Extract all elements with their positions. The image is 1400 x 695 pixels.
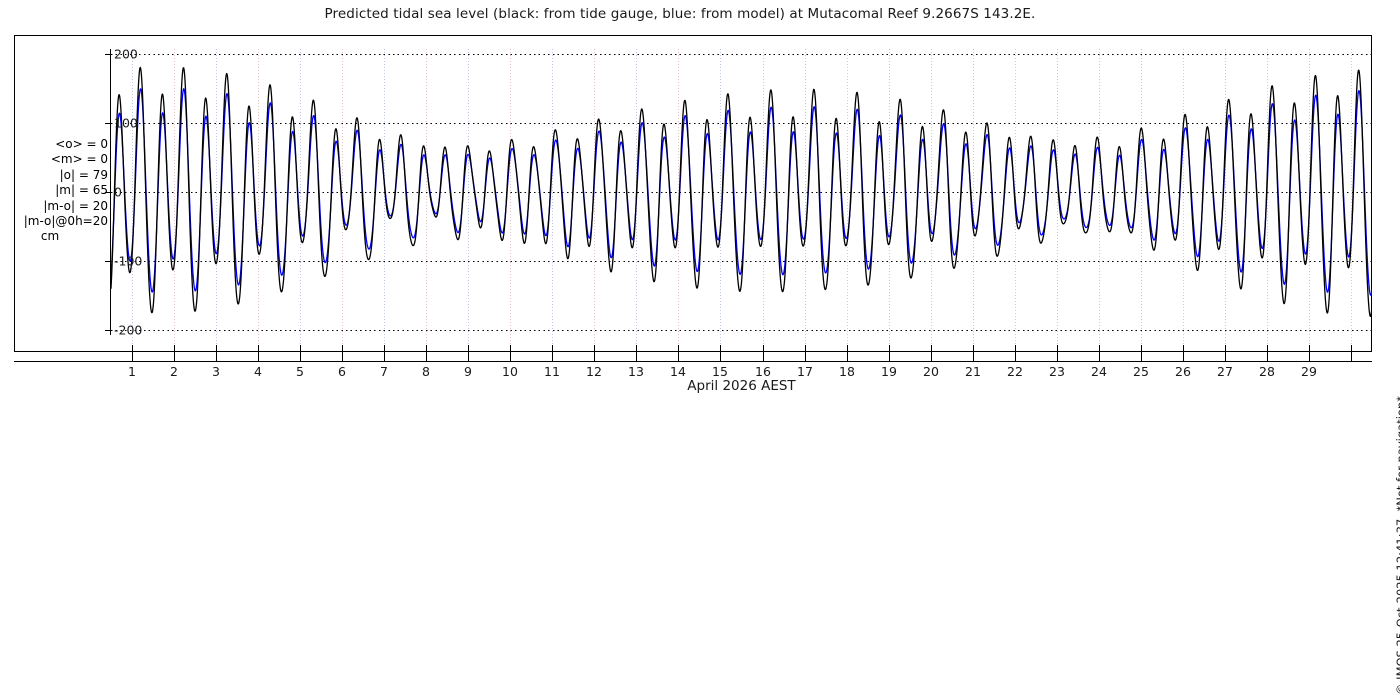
x-axis-tick [300,345,301,361]
x-axis-tick-label: 11 [544,364,560,379]
x-axis-tick-label: 10 [502,364,518,379]
x-axis-tick [1141,345,1142,361]
x-axis-tick-label: 13 [628,364,644,379]
x-axis-line [14,361,1372,362]
x-axis-tick-label: 28 [1259,364,1275,379]
x-axis-tick [132,345,133,361]
x-axis-tick-label: 26 [1175,364,1191,379]
x-axis-tick-label: 12 [586,364,602,379]
x-axis-tick [763,345,764,361]
x-axis-tick [847,345,848,361]
x-axis-tick-label: 2 [170,364,178,379]
x-axis-tick [1183,345,1184,361]
x-axis-tick-label: 19 [881,364,897,379]
x-axis-tick [678,345,679,361]
x-axis-tick [931,345,932,361]
x-axis-tick-label: 14 [670,364,686,379]
stat-line: <o> = 0 [8,137,108,152]
x-axis-tick-label: 15 [712,364,728,379]
x-axis-tick [1309,345,1310,361]
x-axis-tick [468,345,469,361]
x-axis-tick [216,345,217,361]
x-axis-tick-label: 1 [128,364,136,379]
tide-series-plot [111,36,1372,352]
x-axis-tick-label: 24 [1091,364,1107,379]
stat-line: |m-o| = 20 [8,199,108,214]
x-axis-tick [720,345,721,361]
x-axis-tick [973,345,974,361]
x-axis-tick-label: 29 [1301,364,1317,379]
x-axis-tick [1015,345,1016,361]
stat-line: cm [8,229,108,244]
statistics-annotation: <o> = 0<m> = 0|o| = 79|m| = 65|m-o| = 20… [8,137,108,245]
x-axis-tick-label: 9 [464,364,472,379]
x-axis-tick-label: 4 [254,364,262,379]
x-axis-tick [174,345,175,361]
stat-line: |o| = 79 [8,168,108,183]
stat-line: <m> = 0 [8,152,108,167]
x-axis-tick-label: 8 [422,364,430,379]
x-axis-tick-label: 7 [380,364,388,379]
tide-chart-figure: Predicted tidal sea level (black: from t… [0,0,1400,400]
x-axis-tick-label: 22 [1007,364,1023,379]
x-axis-tick-label: 18 [839,364,855,379]
x-axis-tick [1057,345,1058,361]
model-series-line [111,89,1372,295]
x-axis-tick [1225,345,1226,361]
stat-line: |m-o|@0h=20 [8,214,108,229]
x-axis-tick [594,345,595,361]
stat-line: |m| = 65 [8,183,108,198]
observed-series-line [111,67,1372,316]
x-axis-tick-label: 27 [1217,364,1233,379]
series-group [111,67,1372,316]
chart-title: Predicted tidal sea level (black: from t… [0,6,1360,22]
plot-area [111,36,1372,352]
x-axis-tick-label: 23 [1049,364,1065,379]
x-axis-tick-label: 5 [296,364,304,379]
copyright-notice: © IMOS 25-Oct-2025 12:41:37. *Not for na… [1380,0,1398,400]
x-axis-tick [258,345,259,361]
x-axis-tick-label: 21 [965,364,981,379]
x-axis-tick-label: 6 [338,364,346,379]
x-axis-tick [426,345,427,361]
x-axis-tick-label: 25 [1133,364,1149,379]
x-axis-tick [805,345,806,361]
copyright-text: © IMOS 25-Oct-2025 12:41:37. *Not for na… [1394,396,1400,695]
x-axis-tick-label: 17 [797,364,813,379]
x-axis-tick [552,345,553,361]
x-axis-tick [636,345,637,361]
y-axis-line [110,49,111,335]
x-axis-tick [342,345,343,361]
x-axis-tick [384,345,385,361]
x-axis-tick-label: 20 [923,364,939,379]
x-axis-tick [1099,345,1100,361]
x-axis-tick-label: 16 [755,364,771,379]
x-axis-tick [1267,345,1268,361]
x-axis-tick [889,345,890,361]
x-axis-tick [1351,345,1352,361]
x-axis-tick [510,345,511,361]
x-axis-tick-label: 3 [212,364,220,379]
x-axis-title: April 2026 AEST [111,378,1372,394]
